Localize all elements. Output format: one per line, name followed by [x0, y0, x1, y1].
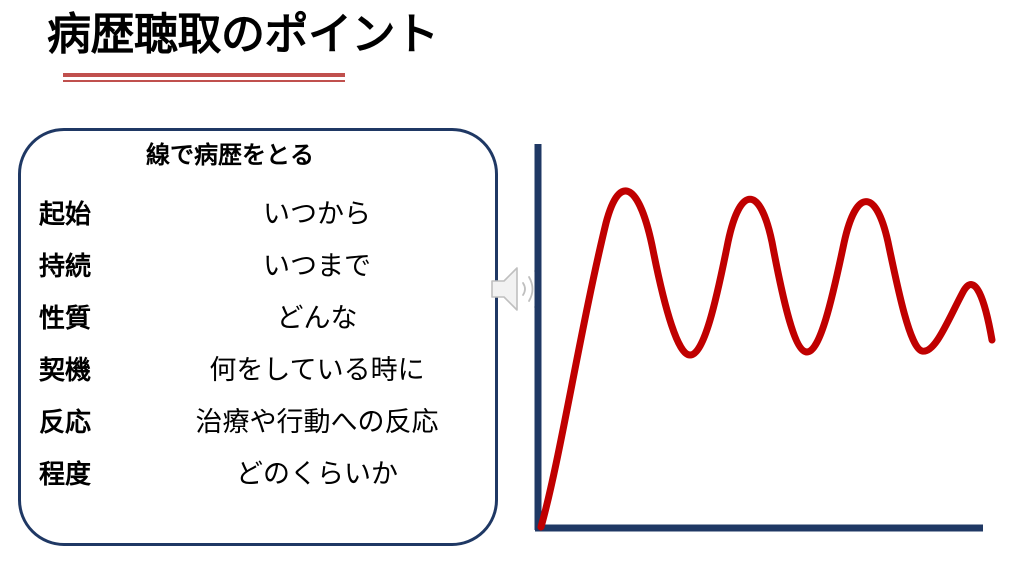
history-row: 性質 どんな: [21, 293, 495, 345]
history-row-value: いつから: [151, 199, 495, 231]
history-row: 反応 治療や行動への反応: [21, 397, 495, 449]
symptom-curve-chart: [520, 130, 1010, 550]
history-row-label: 性質: [21, 304, 151, 334]
history-row: 起始 いつから: [21, 189, 495, 241]
title-block: 病歴聴取のポイント: [47, 6, 527, 92]
history-row-value: 治療や行動への反応: [151, 407, 495, 439]
history-box: 線で病歴をとる 起始 いつから 持続 いつまで 性質 どんな 契機 何をしている…: [18, 128, 498, 546]
history-row: 契機 何をしている時に: [21, 345, 495, 397]
history-row-value: どのくらいか: [151, 459, 495, 491]
history-row-value: どんな: [151, 303, 495, 335]
page-title: 病歴聴取のポイント: [47, 6, 439, 64]
history-row-list: 起始 いつから 持続 いつまで 性質 どんな 契機 何をしている時に 反応 治療…: [21, 189, 495, 501]
title-rule-thin: [63, 80, 345, 82]
chart-series-line: [541, 191, 992, 527]
title-rule-thick: [63, 73, 345, 77]
history-row-label: 契機: [21, 356, 151, 386]
history-row: 程度 どのくらいか: [21, 449, 495, 501]
history-row-label: 反応: [21, 408, 151, 438]
title-underline-rule: [63, 73, 345, 82]
history-row-label: 持続: [21, 252, 151, 282]
history-box-heading: 線で病歴をとる: [21, 138, 439, 172]
history-row-value: いつまで: [151, 251, 495, 283]
history-row-label: 起始: [21, 200, 151, 230]
history-row: 持続 いつまで: [21, 241, 495, 293]
history-row-label: 程度: [21, 460, 151, 490]
history-row-value: 何をしている時に: [151, 355, 495, 387]
slide-canvas: 病歴聴取のポイント 線で病歴をとる 起始 いつから 持続 いつまで 性質 どんな…: [0, 0, 1024, 576]
